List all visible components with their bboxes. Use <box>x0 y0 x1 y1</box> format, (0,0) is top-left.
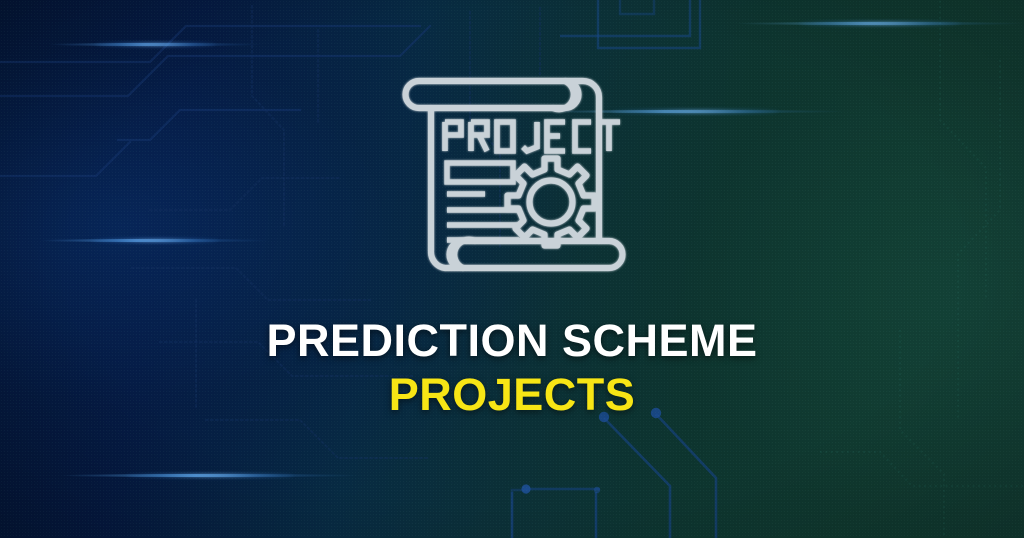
scroll-input-box <box>447 163 513 182</box>
gear-hole <box>530 181 573 224</box>
gear-icon <box>508 159 595 246</box>
page-title-accent: PROJECTS <box>0 370 1024 420</box>
page-title-primary: PREDICTION SCHEME <box>0 316 1024 366</box>
scroll-bottom-roll <box>450 241 623 268</box>
scroll-title-text <box>445 122 620 151</box>
project-scroll-gear-icon <box>387 55 637 295</box>
scroll-top-roll <box>406 81 579 108</box>
gear-outer <box>508 159 595 246</box>
banner-root: PREDICTION SCHEME PROJECTS <box>0 0 1024 538</box>
hero-icon-container <box>0 55 1024 295</box>
headline-block: PREDICTION SCHEME PROJECTS <box>0 316 1024 420</box>
